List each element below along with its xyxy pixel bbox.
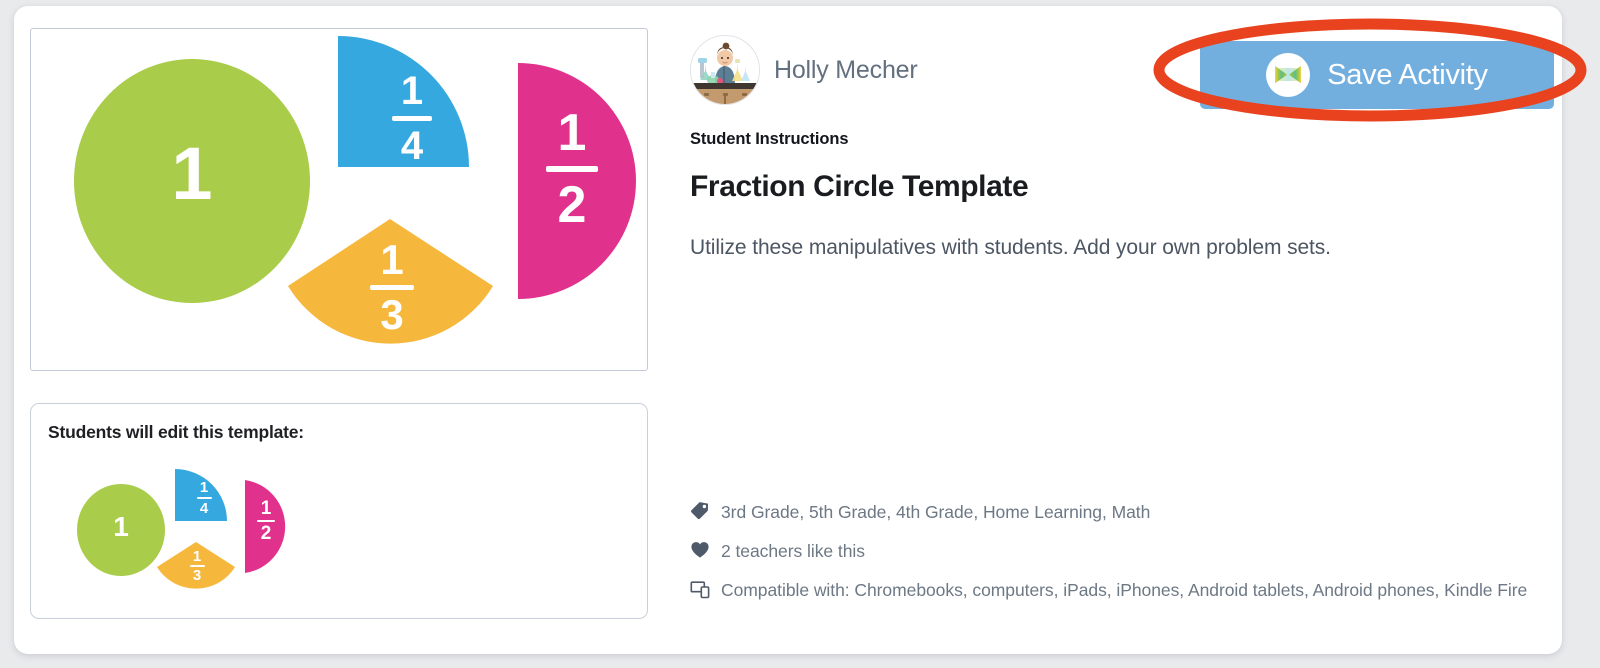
save-activity-label: Save Activity [1327,59,1488,92]
screenshot-root: 1 1 4 1 [0,0,1600,668]
activity-card: 1 1 4 1 [14,6,1562,654]
avatar [690,35,760,105]
meta-row-compatibility: Compatible with: Chromebooks, computers,… [690,576,1560,604]
quarter-wedge-shape-small [174,468,228,522]
whole-circle-shape-small [77,484,165,576]
student-instructions-label: Student Instructions [690,130,1550,149]
seesaw-bowtie-logo-icon [1266,53,1310,97]
activity-preview-card[interactable]: 1 1 4 1 [30,28,648,371]
students-template-card[interactable]: Students will edit this template: 1 1 4 [30,403,648,619]
half-circle-shape [514,61,636,301]
author-name: Holly Mecher [774,56,917,85]
page-title: Fraction Circle Template [690,170,1550,204]
meta-compatibility-text: Compatible with: Chromebooks, computers,… [721,576,1527,604]
tag-icon [690,501,710,521]
activity-meta-list: 3rd Grade, 5th Grade, 4th Grade, Home Le… [690,498,1560,615]
left-column: 1 1 4 1 [30,28,662,619]
third-wedge-shape-small [155,540,237,590]
quarter-wedge-shape [336,34,476,169]
third-wedge-shape [283,214,498,344]
scientist-bitmoji-avatar-icon [691,36,759,104]
save-activity-button[interactable]: Save Activity [1200,41,1554,109]
heart-icon [690,540,710,560]
meta-row-grades: 3rd Grade, 5th Grade, 4th Grade, Home Le… [690,498,1560,526]
activity-description: Utilize these manipulatives with student… [690,236,1550,260]
whole-circle-shape [74,59,310,303]
meta-row-likes: 2 teachers like this [690,537,1560,565]
half-circle-shape-small [243,479,291,574]
meta-grades-text: 3rd Grade, 5th Grade, 4th Grade, Home Le… [721,498,1150,526]
devices-icon [690,579,710,599]
students-template-heading: Students will edit this template: [48,422,304,443]
meta-likes-text: 2 teachers like this [721,537,865,565]
